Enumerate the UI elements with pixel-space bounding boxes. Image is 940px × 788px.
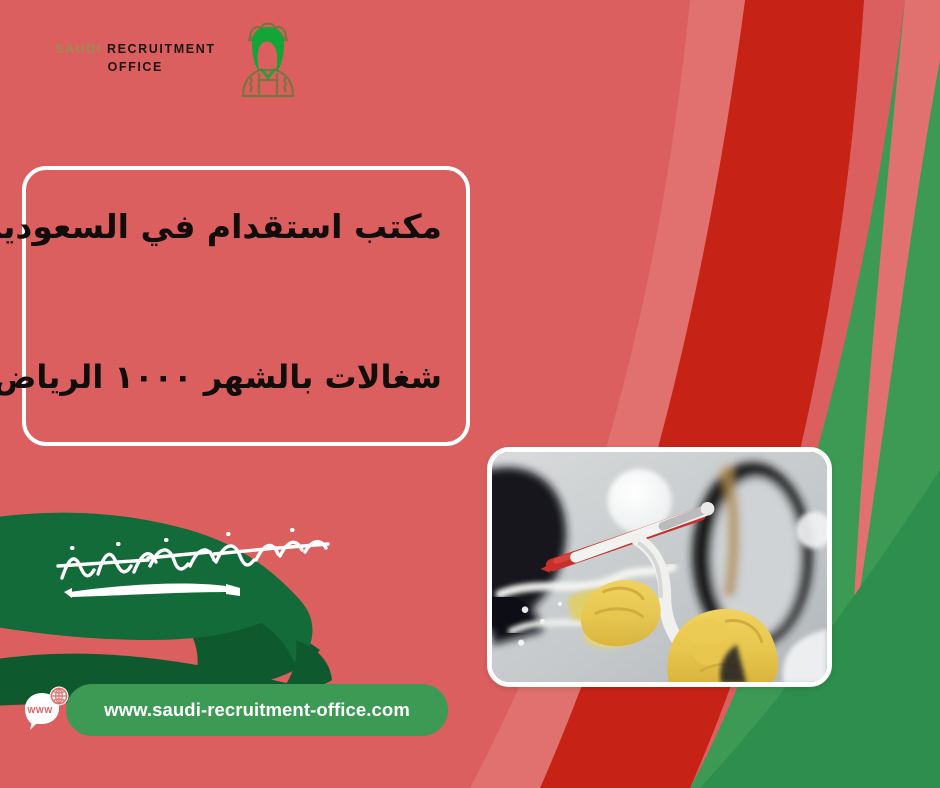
svg-text:WWW: WWW bbox=[27, 705, 53, 715]
brand-wordmark: SAUDI RECRUITMENT OFFICE bbox=[55, 40, 216, 76]
maid-woman-logo-icon bbox=[230, 18, 306, 98]
brand-word-office: OFFICE bbox=[55, 58, 216, 76]
cleaning-photo bbox=[487, 447, 832, 687]
brand-word-saudi: SAUDI bbox=[55, 42, 102, 56]
website-url-bar[interactable]: www.saudi-recruitment-office.com bbox=[66, 684, 448, 736]
headline-line-2: شغالات بالشهر ١٠٠٠ الرياض bbox=[50, 359, 442, 396]
www-speech-bubble-icon: WWW bbox=[18, 683, 72, 737]
headline-card: مكتب استقدام في السعودية شغالات بالشهر ١… bbox=[22, 166, 470, 446]
headline-line-1: مكتب استقدام في السعودية bbox=[50, 208, 442, 246]
brand-logo: SAUDI RECRUITMENT OFFICE bbox=[55, 18, 306, 98]
brand-word-recruitment: RECRUITMENT bbox=[107, 42, 216, 56]
website-url-text: www.saudi-recruitment-office.com bbox=[104, 699, 410, 721]
poster-canvas: SAUDI RECRUITMENT OFFICE bbox=[0, 0, 940, 788]
